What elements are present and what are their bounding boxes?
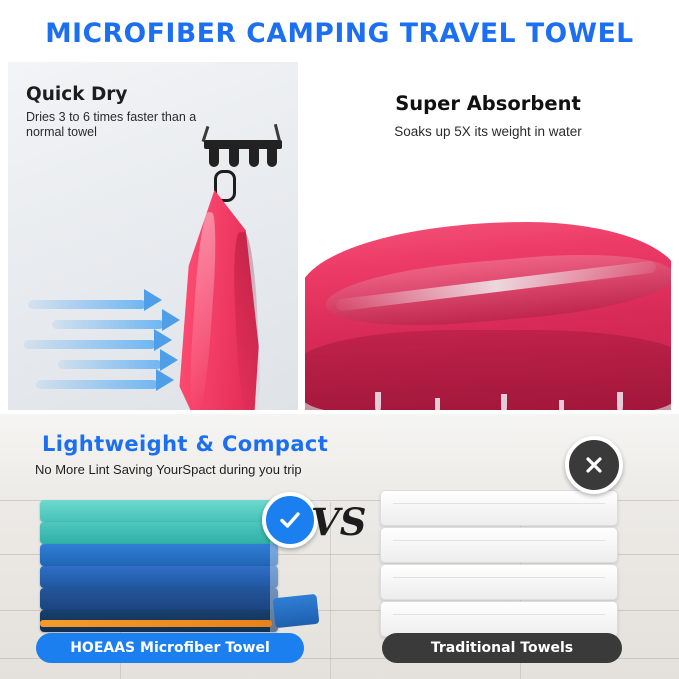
caption-microfiber-towel: HOEAAS Microfiber Towel (36, 633, 304, 663)
super-absorbent-subtitle: Soaks up 5X its weight in water (305, 124, 671, 139)
caption-traditional-towels: Traditional Towels (382, 633, 622, 663)
check-circle-icon (262, 492, 318, 548)
x-circle-icon (565, 436, 623, 494)
quick-dry-title: Quick Dry (26, 84, 128, 105)
traditional-towel-stack (380, 490, 616, 640)
comparison-title: Lightweight & Compact (42, 432, 328, 456)
page-title: MICROFIBER CAMPING TRAVEL TOWEL (0, 18, 679, 49)
super-absorbent-title: Super Absorbent (305, 92, 671, 115)
microfiber-towel-stack (40, 500, 280, 642)
airflow-arrows-icon (18, 290, 208, 400)
folded-blue-towel (273, 594, 320, 628)
quick-dry-subtitle: Dries 3 to 6 times faster than a normal … (26, 110, 226, 140)
comparison-subtitle: No More Lint Saving YourSpact during you… (35, 462, 302, 477)
panel-quick-dry: Quick Dry Dries 3 to 6 times faster than… (8, 62, 298, 410)
panel-super-absorbent: Super Absorbent Soaks up 5X its weight i… (305, 62, 671, 410)
vs-label: VS (311, 500, 366, 544)
product-infographic: MICROFIBER CAMPING TRAVEL TOWEL Quick Dr… (0, 0, 679, 679)
